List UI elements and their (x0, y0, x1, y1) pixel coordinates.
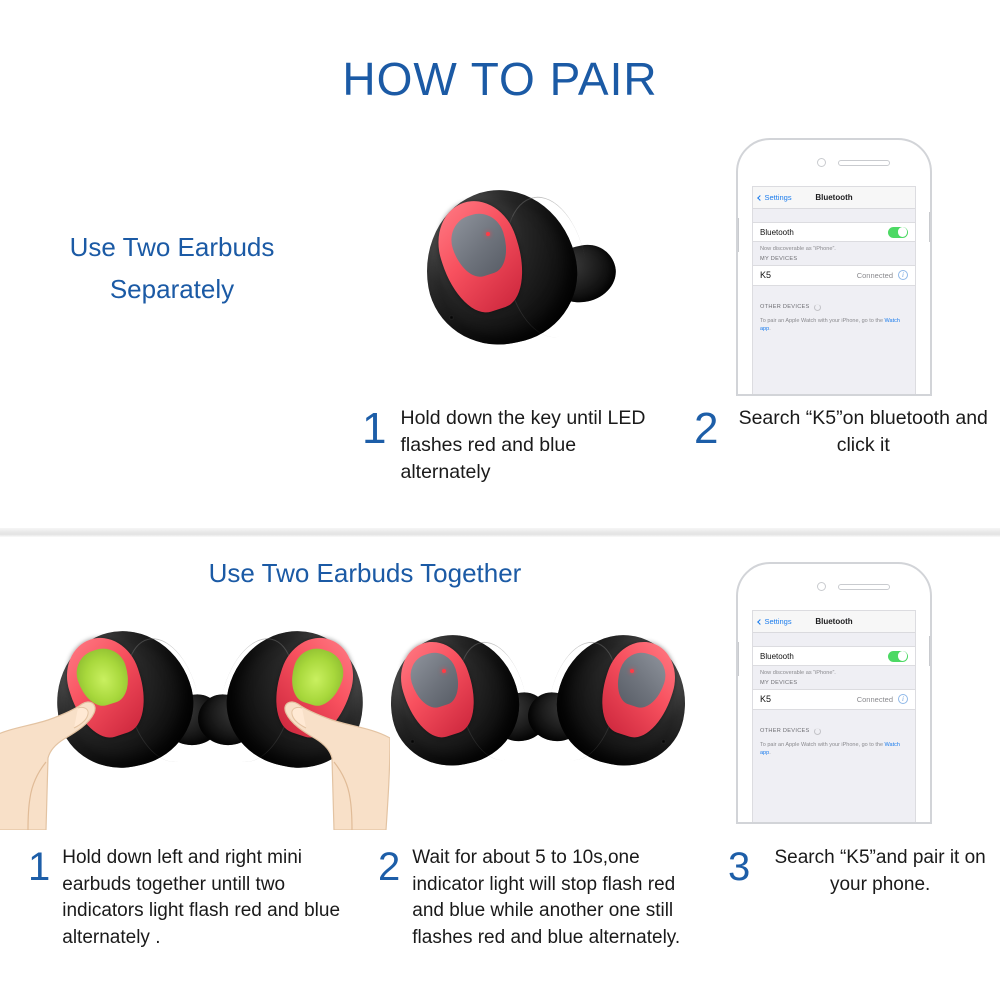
my-devices-label: MY DEVICES (760, 680, 797, 686)
phone-volume-button[interactable] (736, 218, 739, 252)
my-devices-header: MY DEVICES (753, 254, 915, 265)
phone-power-button[interactable] (929, 212, 932, 242)
phone-volume-button[interactable] (736, 642, 739, 676)
loading-spinner-icon (814, 728, 821, 735)
discoverable-note: Now discoverable as “iPhone”. (753, 666, 915, 678)
screen-spacer (753, 209, 915, 222)
screen-empty-area (753, 336, 915, 395)
other-devices-label: OTHER DEVICES (760, 304, 810, 310)
front-camera-icon (817, 582, 826, 591)
loading-spinner-icon (814, 304, 821, 311)
section-gap (753, 710, 915, 726)
watch-app-footnote: To pair an Apple Watch with your iPhone,… (753, 738, 915, 760)
front-camera-icon (817, 158, 826, 167)
device-status: Connected (857, 271, 893, 280)
footnote-suffix: . (769, 326, 771, 332)
info-icon[interactable]: i (898, 270, 908, 280)
earbud-pair-left (388, 631, 548, 776)
section-one-heading-line1: Use Two Earbuds (22, 226, 322, 268)
nav-title: Bluetooth (753, 617, 915, 626)
device-name: K5 (760, 694, 771, 704)
section-two-heading: Use Two Earbuds Together (150, 558, 580, 589)
section-one-step-1: 1 Hold down the key until LED flashes re… (362, 405, 662, 486)
footnote-prefix: To pair an Apple Watch with your iPhone,… (760, 318, 885, 324)
section-one-heading: Use Two Earbuds Separately (22, 226, 322, 310)
section-two-step-1: 1 Hold down left and right mini earbuds … (28, 845, 368, 951)
phone-screen-bottom: Settings Bluetooth Bluetooth Now discove… (752, 610, 916, 822)
phone-screen-top: Settings Bluetooth Bluetooth Now discove… (752, 186, 916, 394)
left-hand-pressing (0, 680, 110, 830)
earbud-led-dot (630, 669, 634, 673)
iphone-mockup-bottom: Settings Bluetooth Bluetooth Now discove… (736, 562, 932, 824)
phone-earpiece-area (738, 140, 930, 186)
step-text: Hold down the key until LED flashes red … (400, 405, 662, 486)
section-two-step-3: 3 Search “K5”and pair it on your phone. (728, 845, 998, 898)
ios-navigation-bar: Settings Bluetooth (753, 187, 915, 209)
earbud-led-dot (442, 669, 446, 673)
device-row-k5[interactable]: K5 Connected i (753, 265, 915, 286)
section-one-step-2: 2 Search “K5”on bluetooth and click it (694, 405, 994, 459)
bluetooth-toggle-switch[interactable] (888, 651, 908, 662)
bluetooth-toggle-switch[interactable] (888, 227, 908, 238)
bluetooth-label: Bluetooth (760, 652, 794, 661)
iphone-mockup-top: Settings Bluetooth Bluetooth Now discove… (736, 138, 932, 396)
bluetooth-label: Bluetooth (760, 228, 794, 237)
info-icon[interactable]: i (898, 694, 908, 704)
device-status: Connected (857, 695, 893, 704)
phone-power-button[interactable] (929, 636, 932, 666)
right-hand-pressing (270, 680, 390, 830)
step-number: 1 (362, 407, 386, 451)
earbuds-pressed-illustration (0, 615, 380, 830)
step-number: 3 (728, 847, 750, 887)
bluetooth-toggle-row[interactable]: Bluetooth (753, 222, 915, 242)
ios-navigation-bar: Settings Bluetooth (753, 611, 915, 633)
other-devices-header: OTHER DEVICES (753, 726, 915, 738)
earbud-led-dot (486, 232, 490, 236)
discoverable-note: Now discoverable as “iPhone”. (753, 242, 915, 254)
device-name: K5 (760, 270, 771, 280)
step-number: 1 (28, 847, 50, 887)
section-gap (753, 286, 915, 302)
my-devices-label: MY DEVICES (760, 256, 797, 262)
step-number: 2 (378, 847, 400, 887)
footnote-prefix: To pair an Apple Watch with your iPhone,… (760, 742, 885, 748)
nav-title: Bluetooth (753, 193, 915, 202)
phone-earpiece-area (738, 564, 930, 610)
other-devices-label: OTHER DEVICES (760, 728, 810, 734)
section-two-step-2: 2 Wait for about 5 to 10s,one indicator … (378, 845, 708, 951)
earpiece-speaker-icon (838, 584, 890, 590)
earbud-microphone (410, 739, 415, 744)
bluetooth-toggle-row[interactable]: Bluetooth (753, 646, 915, 666)
section-one-heading-line2: Separately (22, 268, 322, 310)
footnote-suffix: . (769, 750, 771, 756)
step-text: Wait for about 5 to 10s,one indicator li… (412, 845, 708, 951)
step-text: Hold down left and right mini earbuds to… (62, 845, 368, 951)
earbud-microphone (449, 315, 454, 320)
section-divider (0, 528, 1000, 537)
earpiece-speaker-icon (838, 160, 890, 166)
watch-app-footnote: To pair an Apple Watch with your iPhone,… (753, 314, 915, 336)
how-to-pair-infographic: HOW TO PAIR Use Two Earbuds Separately (0, 0, 1000, 1000)
screen-empty-area (753, 760, 915, 823)
screen-spacer (753, 633, 915, 646)
step-text: Search “K5”and pair it on your phone. (762, 845, 998, 898)
other-devices-header: OTHER DEVICES (753, 302, 915, 314)
earbud-microphone (661, 739, 666, 744)
my-devices-header: MY DEVICES (753, 678, 915, 689)
earbud-pair-illustration (388, 625, 688, 790)
step-number: 2 (694, 407, 718, 451)
page-title: HOW TO PAIR (0, 52, 1000, 106)
device-row-k5[interactable]: K5 Connected i (753, 689, 915, 710)
earbud-pair-right (528, 631, 688, 776)
single-earbud-illustration (420, 186, 620, 356)
step-text: Search “K5”on bluetooth and click it (732, 405, 994, 459)
